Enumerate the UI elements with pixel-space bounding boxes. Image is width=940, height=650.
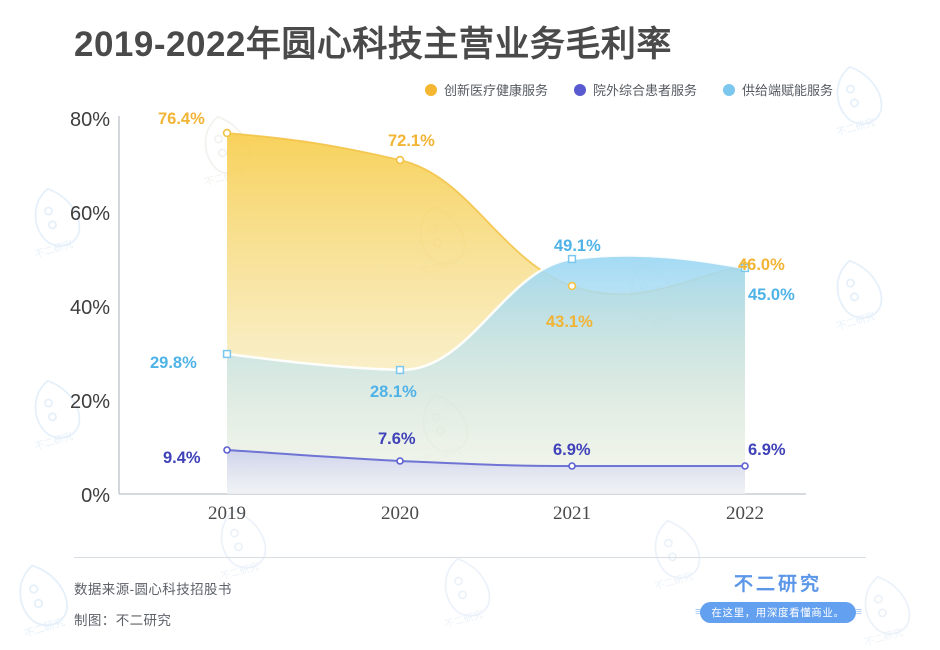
data-label: 76.4%: [158, 110, 205, 128]
legend-item-out-of-hospital[interactable]: 院外综合患者服务: [574, 80, 697, 99]
legend-item-supply-empowerment[interactable]: 供给端赋能服务: [723, 80, 833, 99]
data-label: 29.8%: [150, 354, 197, 372]
svg-text:不二研究: 不二研究: [443, 607, 485, 630]
legend-dot-icon: [574, 84, 586, 96]
data-point[interactable]: [742, 463, 748, 469]
legend-item-innovative-healthcare[interactable]: 创新医疗健康服务: [425, 80, 548, 99]
data-point[interactable]: [224, 447, 230, 453]
data-point[interactable]: [397, 157, 404, 164]
data-label: 9.4%: [163, 449, 201, 467]
data-point[interactable]: [569, 283, 576, 290]
gross-margin-area-chart: 80% 60% 40% 20% 0%: [0, 100, 940, 530]
legend-dot-icon: [425, 84, 437, 96]
data-label: 49.1%: [554, 237, 601, 255]
chart-area: 80% 60% 40% 20% 0%: [0, 100, 940, 530]
x-tick-label: 2021: [553, 503, 591, 524]
x-tick-label: 2019: [208, 503, 246, 524]
data-point[interactable]: [224, 351, 231, 358]
legend-item-label: 供给端赋能服务: [742, 80, 833, 99]
chart-legend: 创新医疗健康服务 院外综合患者服务 供给端赋能服务: [425, 80, 833, 99]
data-point[interactable]: [569, 256, 576, 263]
data-label: 45.0%: [748, 286, 795, 304]
y-tick-label: 20%: [70, 391, 110, 413]
y-tick-label: 40%: [70, 297, 110, 319]
y-axis-ticks: 80% 60% 40% 20% 0%: [70, 109, 110, 507]
x-tick-label: 2020: [381, 503, 419, 524]
svg-text:不二研究: 不二研究: [863, 625, 905, 648]
brand-tagline-row: ≡ 在这里，用深度看懂商业。 ≡: [688, 602, 868, 623]
svg-text:不二研究: 不二研究: [22, 615, 66, 640]
data-label: 46.0%: [738, 256, 785, 274]
data-label: 72.1%: [388, 132, 435, 150]
data-label: 28.1%: [370, 383, 417, 401]
chart-credit-text: 制图：不二研究: [74, 609, 171, 629]
x-axis-ticks: 2019 2020 2021 2022: [208, 503, 764, 524]
page-title: 2019-2022年圆心科技主营业务毛利率: [74, 16, 672, 67]
data-label: 6.9%: [748, 441, 786, 459]
brand-tagline: 在这里，用深度看懂商业。: [700, 602, 855, 623]
footer-divider: [74, 557, 866, 558]
data-source-text: 数据来源-圆心科技招股书: [74, 578, 232, 598]
data-point[interactable]: [397, 458, 403, 464]
x-tick-label: 2022: [726, 503, 764, 524]
y-tick-label: 0%: [81, 485, 110, 507]
data-point[interactable]: [569, 463, 575, 469]
y-tick-label: 60%: [70, 203, 110, 225]
legend-item-label: 创新医疗健康服务: [444, 80, 548, 99]
data-label: 43.1%: [546, 313, 593, 331]
y-tick-label: 80%: [70, 109, 110, 131]
data-point[interactable]: [224, 130, 231, 137]
data-point[interactable]: [397, 367, 404, 374]
data-label: 7.6%: [378, 430, 416, 448]
legend-item-label: 院外综合患者服务: [593, 80, 697, 99]
brand-name: 不二研究: [688, 575, 868, 596]
legend-dot-icon: [723, 84, 735, 96]
brand-logo: 不二研究 ≡ 在这里，用深度看懂商业。 ≡: [688, 575, 868, 623]
data-label: 6.9%: [553, 441, 591, 459]
tagline-right-wing-icon: ≡: [856, 606, 861, 618]
